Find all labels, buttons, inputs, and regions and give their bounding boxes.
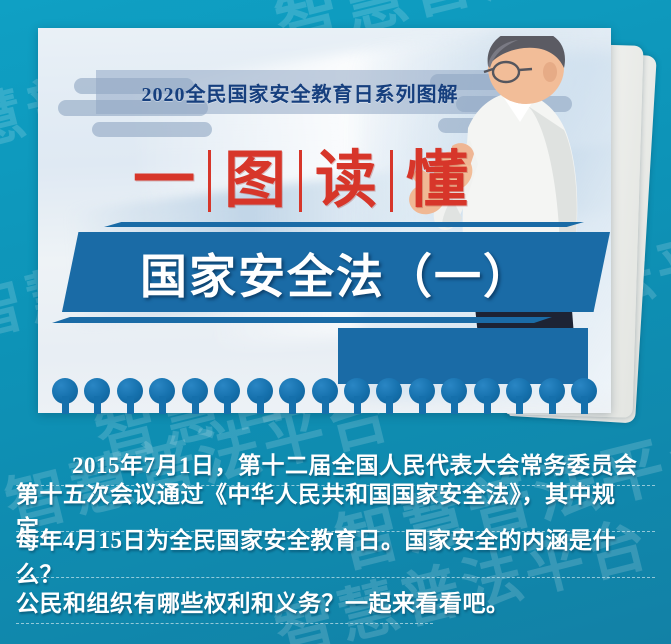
headline-yitududong: 一 图 读 懂 (122, 146, 479, 216)
headline-char: 读 (304, 146, 388, 216)
binding-pin (182, 378, 208, 414)
headline-divider (299, 150, 302, 212)
binding-pin (214, 378, 240, 414)
headline-char: 一 (122, 146, 206, 216)
binding-pin (474, 378, 500, 414)
cloud-bar-icon (92, 122, 212, 137)
binding-pin (344, 378, 370, 414)
banner-bottom-rule (52, 317, 552, 323)
banner-top-rule (104, 222, 584, 227)
headline-char: 懂 (395, 146, 479, 216)
binding-pin (279, 378, 305, 414)
binding-pin (571, 378, 597, 414)
headline-divider (208, 150, 211, 212)
binding-pin (506, 378, 532, 414)
lectern (338, 328, 588, 384)
title-banner: 国家安全法（一） (48, 222, 604, 334)
binding-pin (376, 378, 402, 414)
poster-root: 智慧普法平台 智慧普法平台 智慧普法平台 智慧普法平台 智慧普法平台 智慧普法平… (0, 0, 671, 644)
body-line: 公民和组织有哪些权利和义务？一起来看看吧。 (0, 578, 671, 624)
subtitle-text: 2020全民国家安全教育日系列图解 (96, 70, 504, 114)
binding-pin (312, 378, 338, 414)
headline-char: 图 (213, 146, 297, 216)
binding-pin (149, 378, 175, 414)
banner-title-text: 国家安全法（一） (62, 232, 610, 312)
body-line: 每年4月15日为全民国家安全教育日。国家安全的内涵是什么？ (0, 532, 671, 578)
headline-divider (390, 150, 393, 212)
binding-pin (539, 378, 565, 414)
binding-pin (247, 378, 273, 414)
main-card: 2020全民国家安全教育日系列图解 一 图 读 懂 (38, 28, 611, 413)
binding-pin (441, 378, 467, 414)
binding-pins (38, 378, 611, 414)
binding-pin (409, 378, 435, 414)
binding-pin (117, 378, 143, 414)
binding-pin (84, 378, 110, 414)
binding-pin (52, 378, 78, 414)
body-copy: 2015年7月1日，第十二届全国人民代表大会常务委员会 第十五次会议通过《中华人… (0, 440, 671, 644)
